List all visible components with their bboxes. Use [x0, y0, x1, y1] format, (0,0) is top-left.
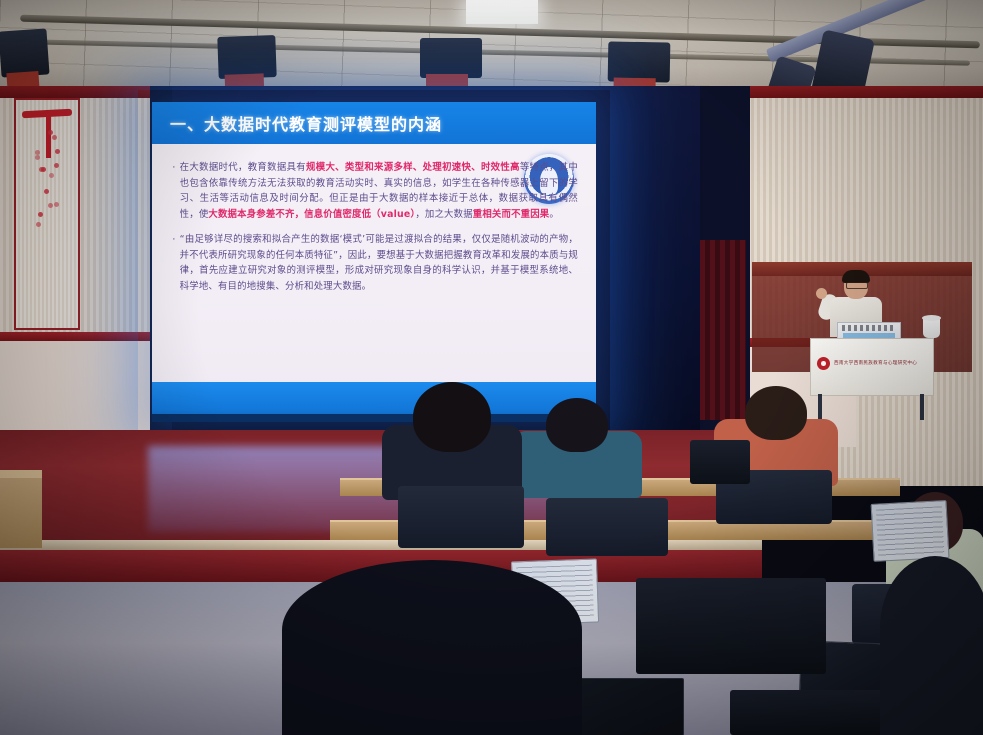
bullet-text: “由足够详尽的搜索和拟合产生的数据‘模式’可能是过渡拟合的结果，仅仅是随机波动的… [180, 232, 578, 294]
lecture-hall-photo: 一、大数据时代教育测评模型的内涵 ·在大数据时代，教育数据具有规模大、类型和来源… [0, 0, 983, 735]
floral-dot [55, 149, 60, 154]
floral-dot [54, 163, 59, 168]
slide-title: 一、大数据时代教育测评模型的内涵 [152, 111, 442, 135]
skylight-panel [466, 0, 538, 24]
slide-title-bar: 一、大数据时代教育测评模型的内涵 [152, 102, 596, 144]
podium-sign: 西南大学西南民族教育与心理研究中心 [817, 355, 927, 371]
chair-back [636, 578, 826, 674]
floral-dot [48, 130, 53, 135]
slide-bullet: ·在大数据时代，教育数据具有规模大、类型和来源多样、处理初速快、时效性高等特点，… [172, 160, 578, 222]
audience-member-head [413, 382, 491, 452]
floral-dot [54, 202, 59, 207]
floral-dot [52, 135, 57, 140]
equipment-box [690, 440, 750, 484]
chair-back [546, 498, 668, 556]
body-text: 在大数据时代，教育数据具有 [180, 162, 306, 173]
laptop[interactable] [871, 500, 948, 560]
stage-light [420, 38, 482, 78]
bullet-marker: · [172, 232, 176, 294]
tea-cup [923, 318, 940, 338]
podium-organization-text: 西南大学西南民族教育与心理研究中心 [834, 360, 917, 366]
stage-light [608, 41, 671, 82]
audience-member-head [546, 398, 608, 452]
body-text: 。 [549, 209, 559, 220]
stage-light [0, 28, 50, 77]
audience-member-head [745, 386, 807, 440]
highlighted-term: 规模大、类型和来源多样、处理初速快、时效性高 [306, 162, 520, 173]
slide-body: ·在大数据时代，教育数据具有规模大、类型和来源多样、处理初速快、时效性高等特点，… [152, 144, 596, 384]
document-lines [876, 506, 944, 556]
speaker-hand [816, 288, 827, 299]
wall-decoration-left [14, 98, 80, 330]
laptop-screen [871, 500, 950, 562]
body-text: “由足够详尽的搜索和拟合产生的数据‘模式’可能是过渡拟合的结果，仅仅是随机波动的… [180, 234, 578, 292]
floral-dot [48, 203, 53, 208]
wall-accent-band [0, 86, 172, 98]
institute-emblem [817, 357, 830, 370]
presentation-slide: 一、大数据时代教育测评模型的内涵 ·在大数据时代，教育数据具有规模大、类型和来源… [152, 102, 596, 422]
slide-bullet: ·“由足够详尽的搜索和拟合产生的数据‘模式’可能是过渡拟合的结果，仅仅是随机波动… [172, 232, 578, 294]
chair-back [398, 486, 524, 548]
highlighted-term: 大数据本身参差不齐，信息价值密度低（value） [208, 209, 415, 220]
nameplate-name-text [842, 325, 896, 331]
highlighted-term: 重相关而不重因果 [473, 209, 550, 220]
body-text: ，加之大数据 [415, 209, 472, 220]
audience-member [512, 398, 642, 498]
floral-dot [41, 167, 46, 172]
floral-dot [35, 155, 40, 160]
side-table [0, 470, 42, 548]
glasses-icon [846, 282, 868, 289]
floral-dot [49, 173, 54, 178]
foreground-person [282, 560, 582, 735]
bullet-marker: · [172, 160, 176, 222]
foreground-person [880, 556, 983, 735]
floral-dots [35, 128, 60, 248]
wainscot-trim [0, 332, 158, 341]
stage-light [217, 35, 276, 79]
projection-screen: 一、大数据时代教育测评模型的内涵 ·在大数据时代，教育数据具有规模大、类型和来源… [152, 102, 596, 422]
floral-dot [36, 222, 41, 227]
wall-accent-band [736, 86, 983, 98]
floral-dot [44, 189, 49, 194]
floral-dot [38, 212, 43, 217]
audience-member [382, 382, 522, 500]
bullet-text: 在大数据时代，教育数据具有规模大、类型和来源多样、处理初速快、时效性高等特点，其… [180, 160, 578, 222]
